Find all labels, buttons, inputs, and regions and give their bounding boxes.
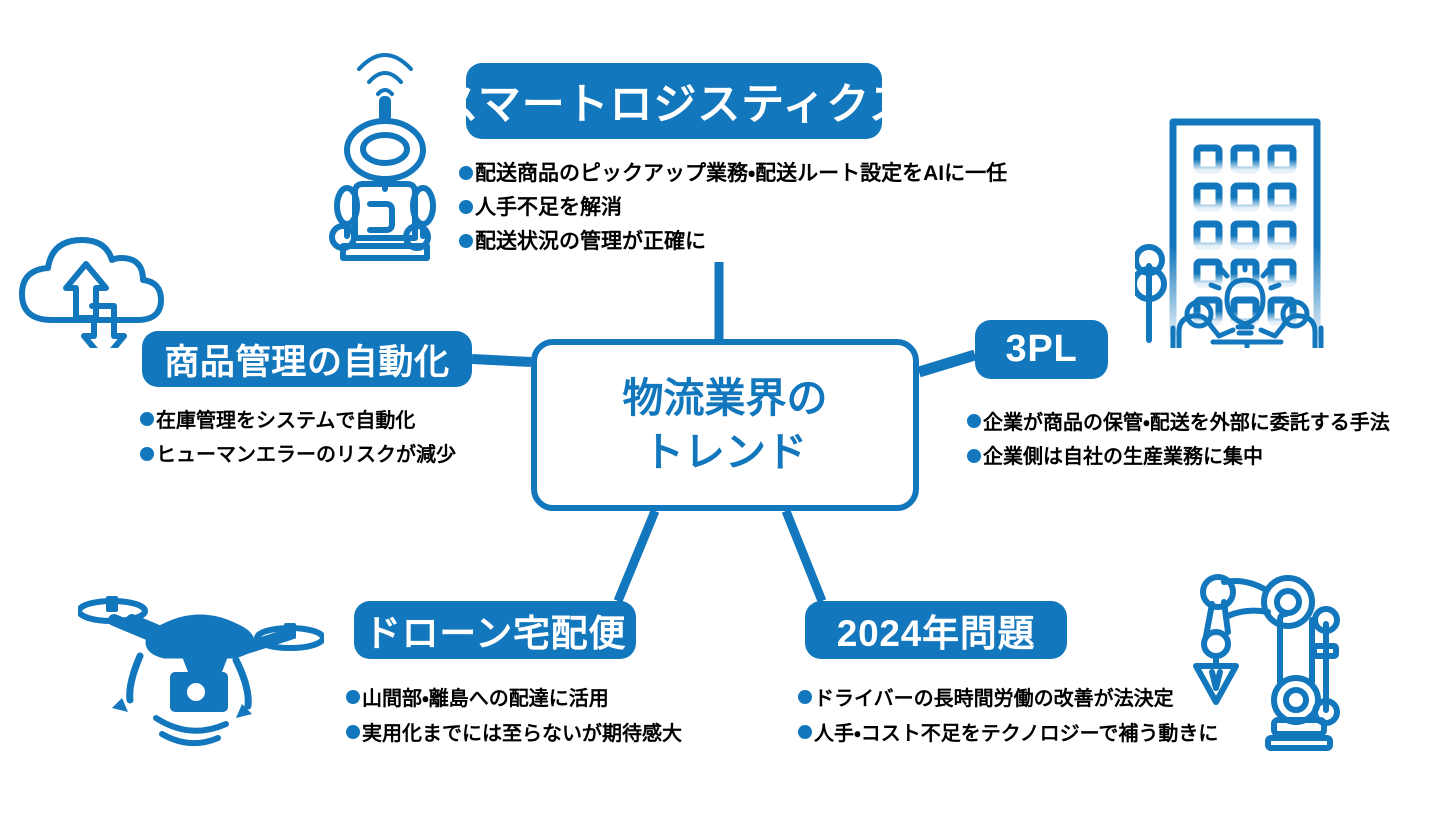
bullet-list-drone-delivery: 山間部・離島への配達に活用 実用化までには至らないが期待感大 [346, 682, 682, 752]
bullet-text: 企業が商品の保管・配送を外部に委託する手法 [983, 406, 1390, 440]
list-item: 在庫管理をシステムで自動化 [140, 404, 456, 438]
infographic-canvas: 物流業界の トレンド スマートロジスティクス 配送商品のピックアップ業務・配送ル… [0, 0, 1440, 830]
bullet-text: ドライバーの長時間労働の改善が法決定 [814, 682, 1174, 717]
bullet-dot-icon [140, 447, 154, 461]
bullet-list-3pl: 企業が商品の保管・配送を外部に委託する手法 企業側は自社の生産業務に集中 [967, 406, 1390, 475]
bullet-dot-icon [346, 725, 360, 739]
center-node-line1: 物流業界の [623, 371, 828, 425]
list-item: ドライバーの長時間労働の改善が法決定 [798, 682, 1218, 717]
branch-label-text: 3PL [1006, 328, 1078, 371]
bullet-dot-icon [798, 690, 812, 704]
bullet-text: 人手不足を解消 [475, 191, 622, 225]
list-item: 配送状況の管理が正確に [459, 225, 1007, 259]
center-node-line2: トレンド [643, 425, 807, 479]
bullet-dot-icon [967, 414, 981, 428]
bullet-text: 山間部・離島への配達に活用 [362, 682, 609, 717]
bullet-dot-icon [459, 234, 473, 248]
list-item: 人手不足を解消 [459, 191, 1007, 225]
list-item: 実用化までには至らないが期待感大 [346, 717, 682, 752]
list-item: 企業側は自社の生産業務に集中 [967, 440, 1390, 474]
bullet-text: 実用化までには至らないが期待感大 [362, 717, 682, 752]
branch-label-text: ドローン宅配便 [364, 603, 626, 657]
bullet-list-smart-logistics: 配送商品のピックアップ業務・配送ルート設定をAIに一任 人手不足を解消 配送状況… [459, 157, 1007, 259]
bullet-dot-icon [798, 725, 812, 739]
branch-label-inventory-automation[interactable]: 商品管理の自動化 [142, 331, 472, 387]
bullet-text: 人手・コスト不足をテクノロジーで補う動きに [814, 717, 1218, 752]
branch-label-text: スマートロジスティクス [435, 70, 912, 132]
bullet-list-inventory-automation: 在庫管理をシステムで自動化 ヒューマンエラーのリスクが減少 [140, 404, 456, 473]
branch-label-text: 商品管理の自動化 [164, 334, 450, 385]
bullet-text: 配送状況の管理が正確に [475, 225, 706, 259]
branch-label-3pl[interactable]: 3PL [975, 320, 1108, 379]
bullet-dot-icon [346, 690, 360, 704]
bullet-text: 配送商品のピックアップ業務・配送ルート設定をAIに一任 [475, 157, 1007, 191]
bullet-dot-icon [459, 166, 473, 180]
bullet-text: ヒューマンエラーのリスクが減少 [156, 438, 456, 472]
bullet-text: 企業側は自社の生産業務に集中 [983, 440, 1263, 474]
list-item: 人手・コスト不足をテクノロジーで補う動きに [798, 717, 1218, 752]
bullet-text: 在庫管理をシステムで自動化 [156, 404, 415, 438]
bullet-list-2024-problem: ドライバーの長時間労働の改善が法決定 人手・コスト不足をテクノロジーで補う動きに [798, 682, 1218, 752]
branch-label-smart-logistics[interactable]: スマートロジスティクス [466, 63, 882, 139]
content-layer: 物流業界の トレンド スマートロジスティクス 配送商品のピックアップ業務・配送ル… [0, 0, 1440, 830]
bullet-dot-icon [967, 449, 981, 463]
list-item: 配送商品のピックアップ業務・配送ルート設定をAIに一任 [459, 157, 1007, 191]
list-item: 山間部・離島への配達に活用 [346, 682, 682, 717]
bullet-dot-icon [459, 200, 473, 214]
branch-label-2024-problem[interactable]: 2024年問題 [805, 601, 1067, 659]
branch-label-drone-delivery[interactable]: ドローン宅配便 [354, 601, 636, 659]
list-item: ヒューマンエラーのリスクが減少 [140, 438, 456, 472]
branch-label-text: 2024年問題 [837, 603, 1036, 657]
bullet-dot-icon [140, 412, 154, 426]
center-node: 物流業界の トレンド [531, 339, 919, 511]
list-item: 企業が商品の保管・配送を外部に委託する手法 [967, 406, 1390, 440]
